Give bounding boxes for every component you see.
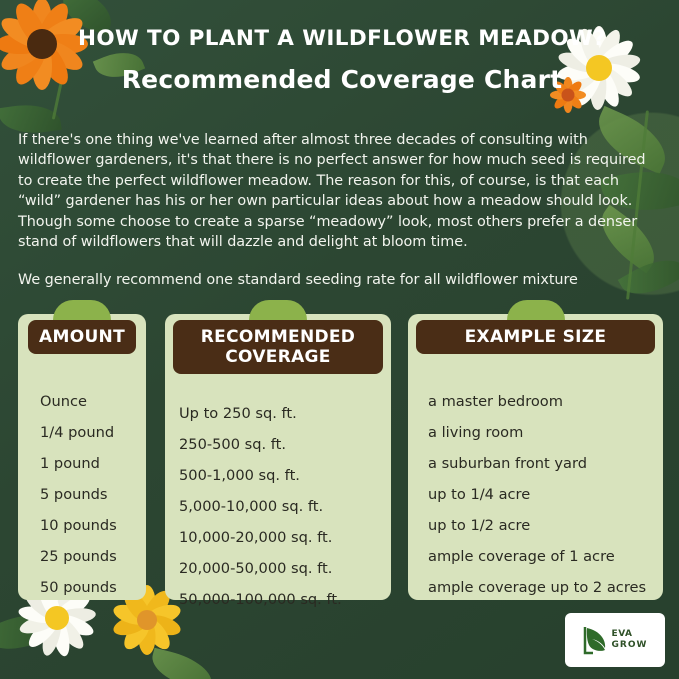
logo-line-1: EVA (612, 629, 648, 640)
column-example-size: EXAMPLE SIZE a master bedroom a living r… (408, 300, 663, 600)
coverage-table: AMOUNT Ounce 1/4 pound 1 pound 5 pounds … (18, 300, 663, 600)
table-row: up to 1/4 acre (428, 479, 663, 510)
table-row: up to 1/2 acre (428, 510, 663, 541)
column-header-example-size: EXAMPLE SIZE (416, 320, 655, 354)
logo-wordmark: EVA GROW (612, 629, 648, 651)
table-row: a master bedroom (428, 386, 663, 417)
paragraph-1: If there's one thing we've learned after… (18, 130, 663, 252)
column-header-recommended-coverage: RECOMMENDED COVERAGE (173, 320, 383, 374)
column-header-amount: AMOUNT (28, 320, 136, 354)
column-amount: AMOUNT Ounce 1/4 pound 1 pound 5 pounds … (18, 300, 146, 600)
column-rows-example: a master bedroom a living room a suburba… (428, 386, 663, 603)
table-row: 10 pounds (40, 510, 146, 541)
header: HOW TO PLANT A WILDFLOWER MEADOW? Recomm… (66, 26, 618, 94)
table-row: 5,000-10,000 sq. ft. (179, 491, 391, 522)
page-title: HOW TO PLANT A WILDFLOWER MEADOW? (66, 26, 618, 51)
table-row: 25 pounds (40, 541, 146, 572)
column-tab-arc (507, 300, 565, 320)
brand-logo: EVA GROW (565, 613, 665, 667)
table-row: 1 pound (40, 448, 146, 479)
body-copy: If there's one thing we've learned after… (18, 130, 663, 291)
column-tab-arc (53, 300, 111, 320)
table-row: a suburban front yard (428, 448, 663, 479)
table-row: 10,000-20,000 sq. ft. (179, 522, 391, 553)
logo-line-2: GROW (612, 640, 648, 651)
column-rows-amount: Ounce 1/4 pound 1 pound 5 pounds 10 poun… (40, 386, 146, 603)
leaf-logo-icon (583, 625, 609, 655)
table-row: 20,000-50,000 sq. ft. (179, 553, 391, 584)
table-row: 50,000-100,000 sq. ft. (179, 584, 391, 615)
table-row: 1/4 pound (40, 417, 146, 448)
table-row: 50 pounds (40, 572, 146, 603)
table-row: 500-1,000 sq. ft. (179, 460, 391, 491)
page-subtitle: Recommended Coverage Chart (66, 65, 618, 94)
table-row: ample coverage of 1 acre (428, 541, 663, 572)
poster-canvas: HOW TO PLANT A WILDFLOWER MEADOW? Recomm… (0, 0, 679, 679)
table-row: ample coverage up to 2 acres (428, 572, 663, 603)
column-header-line-1: RECOMMENDED (177, 327, 379, 347)
table-row: Ounce (40, 386, 146, 417)
column-rows-coverage: Up to 250 sq. ft. 250-500 sq. ft. 500-1,… (179, 398, 391, 615)
column-recommended-coverage: RECOMMENDED COVERAGE Up to 250 sq. ft. 2… (165, 300, 391, 600)
table-row: a living room (428, 417, 663, 448)
column-tab-arc (249, 300, 307, 320)
table-row: 5 pounds (40, 479, 146, 510)
paragraph-2: We generally recommend one standard seed… (18, 270, 663, 290)
table-row: Up to 250 sq. ft. (179, 398, 391, 429)
column-header-line-2: COVERAGE (177, 347, 379, 367)
table-row: 250-500 sq. ft. (179, 429, 391, 460)
